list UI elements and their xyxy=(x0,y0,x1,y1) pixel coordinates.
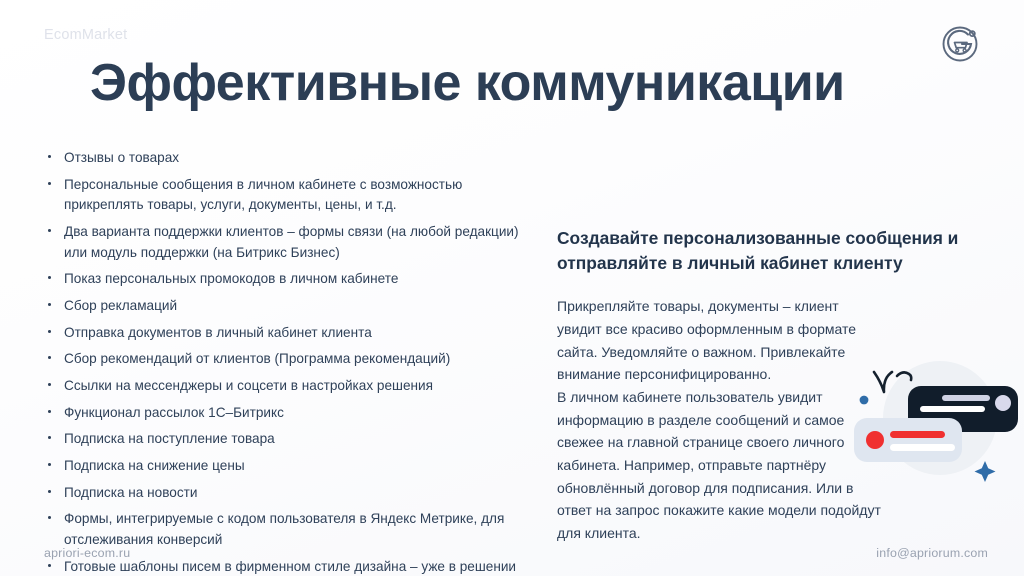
slide-root: EcomMarket Эффективные коммуникации Отзы… xyxy=(0,0,1024,576)
bullet-dot-icon xyxy=(48,516,51,519)
bullet-dot-icon xyxy=(48,155,51,158)
bullet-dot-icon xyxy=(48,383,51,386)
page-title: Эффективные коммуникации xyxy=(90,54,990,112)
bullet-item-label: Подписка на новости xyxy=(64,485,197,500)
right-panel: Создавайте персонализованные сообщения и… xyxy=(557,226,887,545)
bullet-dot-icon xyxy=(48,490,51,493)
bullet-item: Показ персональных промокодов в личном к… xyxy=(44,269,544,290)
bullet-item: Отправка документов в личный кабинет кли… xyxy=(44,323,544,344)
bullet-item: Сбор рекламаций xyxy=(44,296,544,317)
footer-site-url: apriori-ecom.ru xyxy=(44,546,130,560)
bullet-item-label: Показ персональных промокодов в личном к… xyxy=(64,271,398,286)
brand-label: EcomMarket xyxy=(44,27,127,43)
bullet-dot-icon xyxy=(48,276,51,279)
chat-messages-illustration xyxy=(848,348,1024,488)
bullet-dot-icon xyxy=(48,356,51,359)
panel-body-text: Прикрепляйте товары, документы – клиент … xyxy=(557,295,887,544)
bullet-item: Подписка на снижение цены xyxy=(44,456,544,477)
footer-email: info@apriorum.com xyxy=(876,546,988,560)
bullet-item: Отзывы о товарах xyxy=(44,148,544,169)
bullet-item-label: Два варианта поддержки клиентов – формы … xyxy=(64,224,519,260)
bullet-item: Формы, интегрируемые с кодом пользовател… xyxy=(44,509,544,550)
bullet-item-label: Подписка на поступление товара xyxy=(64,431,275,446)
bullet-dot-icon xyxy=(48,182,51,185)
bullet-item: Подписка на поступление товара xyxy=(44,429,544,450)
bullet-item: Подписка на новости xyxy=(44,483,544,504)
bullet-item: Сбор рекомендаций от клиентов (Программа… xyxy=(44,349,544,370)
bullet-dot-icon xyxy=(48,463,51,466)
bullet-item: Ссылки на мессенджеры и соцсети в настро… xyxy=(44,376,544,397)
bullet-dot-icon xyxy=(48,410,51,413)
bullet-dot-icon xyxy=(48,564,51,567)
bullet-dot-icon xyxy=(48,229,51,232)
bullet-item-label: Отправка документов в личный кабинет кли… xyxy=(64,325,372,340)
bullet-dot-icon xyxy=(48,303,51,306)
bullet-item: Два варианта поддержки клиентов – формы … xyxy=(44,222,544,263)
bullet-item-label: Ссылки на мессенджеры и соцсети в настро… xyxy=(64,378,433,393)
bullet-item: Персональные сообщения в личном кабинете… xyxy=(44,175,544,216)
bullet-dot-icon xyxy=(48,436,51,439)
bullet-item-label: Формы, интегрируемые с кодом пользовател… xyxy=(64,511,504,547)
bullet-item: Функционал рассылок 1С–Битрикс xyxy=(44,403,544,424)
bullet-item-label: Сбор рекламаций xyxy=(64,298,177,313)
bullet-item-label: Отзывы о товарах xyxy=(64,150,179,165)
bullet-item-label: Функционал рассылок 1С–Битрикс xyxy=(64,405,284,420)
feature-bullet-list: Отзывы о товарахПерсональные сообщения в… xyxy=(44,148,544,576)
bullet-item-label: Сбор рекомендаций от клиентов (Программа… xyxy=(64,351,450,366)
bullet-item-label: Подписка на снижение цены xyxy=(64,458,245,473)
panel-heading: Создавайте персонализованные сообщения и… xyxy=(557,226,977,275)
bullet-item-label: Готовые шаблоны писем в фирменном стиле … xyxy=(64,559,516,574)
bullet-item-label: Персональные сообщения в личном кабинете… xyxy=(64,177,462,213)
bullet-dot-icon xyxy=(48,330,51,333)
